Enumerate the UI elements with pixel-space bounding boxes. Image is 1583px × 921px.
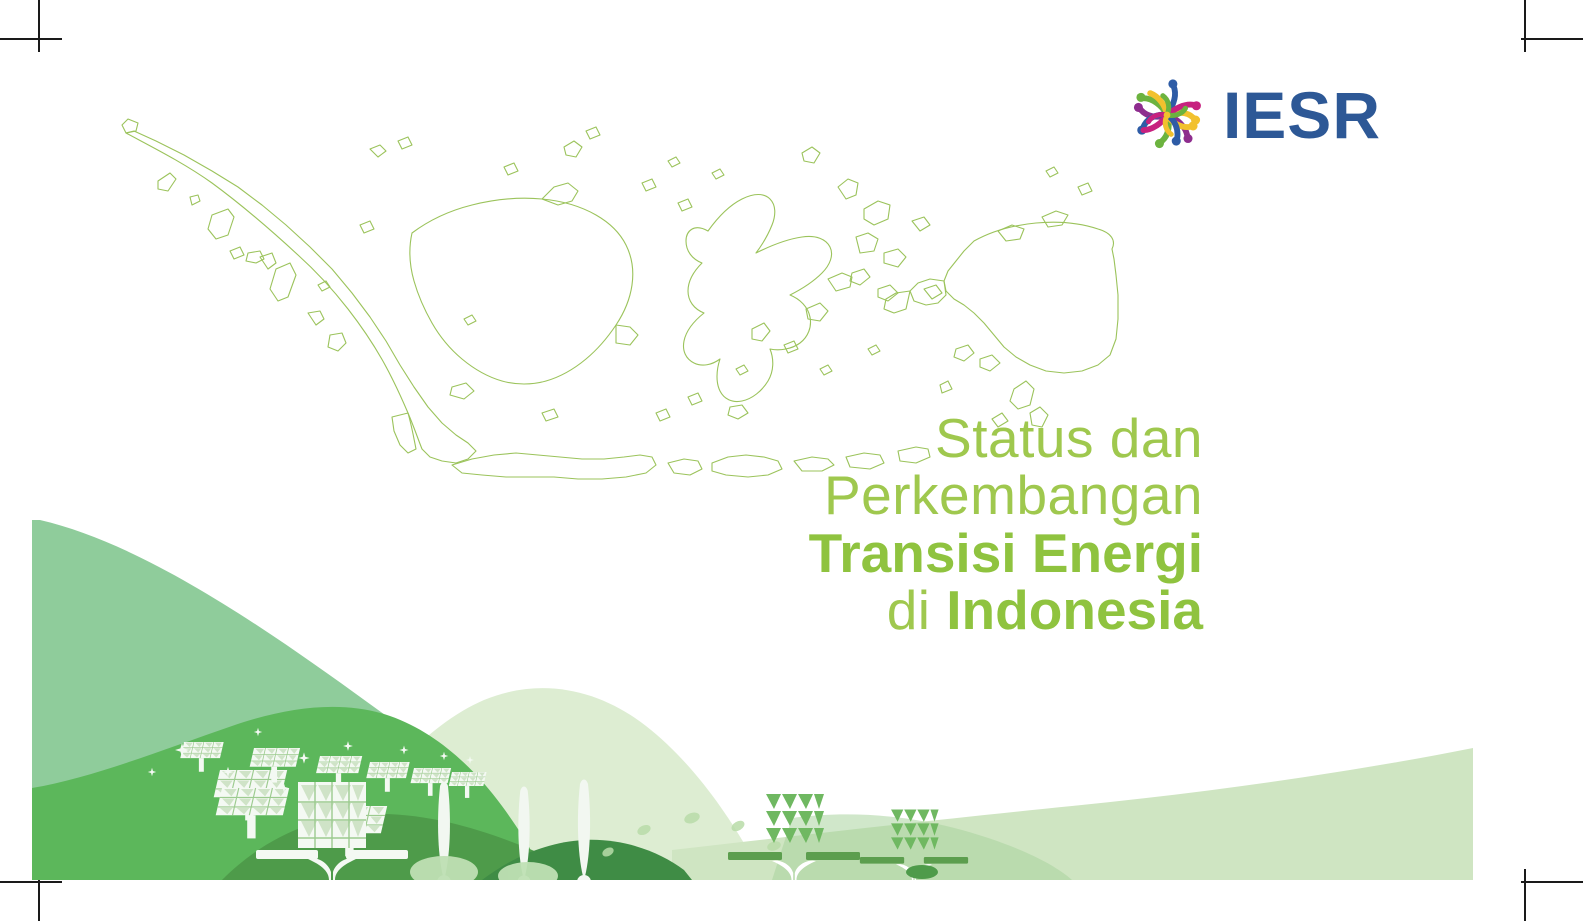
title-line-1: Status dan — [563, 410, 1203, 467]
iesr-pinwheel-icon — [1125, 73, 1209, 157]
map-maluku — [802, 147, 942, 301]
map-small-islands — [230, 127, 1092, 427]
cover-page: IESR Status dan Perkembangan Transisi En… — [0, 0, 1583, 921]
crop-mark-bottom-left-horizontal — [0, 881, 62, 883]
map-sumatra — [122, 119, 476, 463]
map-kalimantan — [410, 183, 638, 399]
cover-artwork: IESR Status dan Perkembangan Transisi En… — [32, 18, 1473, 880]
iesr-logo: IESR — [1125, 73, 1381, 157]
iesr-wordmark: IESR — [1223, 82, 1381, 148]
title-line-2: Perkembangan — [563, 467, 1203, 524]
map-papua — [884, 211, 1118, 427]
crop-mark-bottom-right-vertical — [1524, 869, 1526, 921]
crop-mark-top-right-horizontal — [1521, 38, 1583, 40]
bush-right — [906, 865, 938, 879]
crop-mark-top-right-vertical — [1524, 0, 1526, 52]
map-sulawesi — [683, 195, 852, 420]
crop-mark-bottom-right-horizontal — [1521, 881, 1583, 883]
energy-landscape-illustration — [32, 520, 1473, 880]
